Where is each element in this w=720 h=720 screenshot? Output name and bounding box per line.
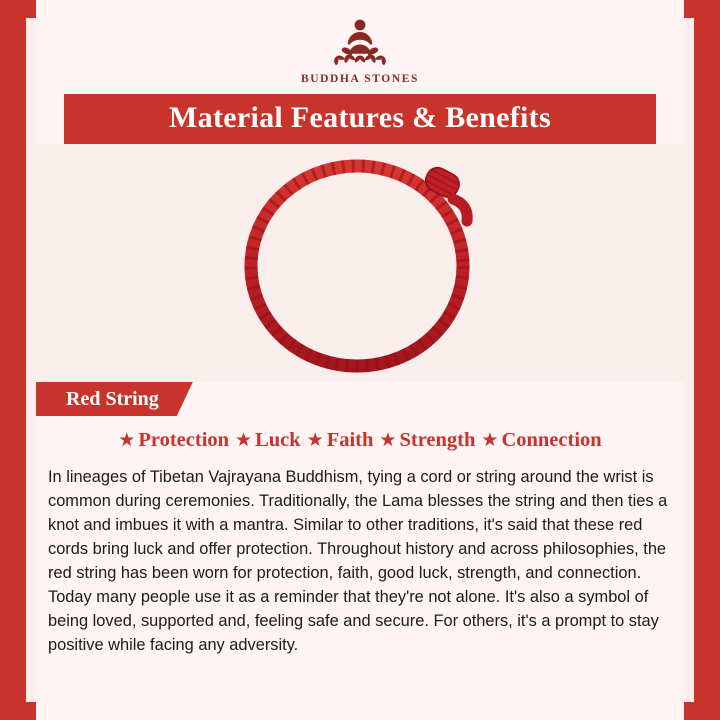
star-icon: ★ [235,431,252,450]
product-image [36,144,684,382]
brand-name: BUDDHA STONES [301,73,419,85]
star-icon: ★ [379,431,396,450]
feature-item-luck: ★ Luck [235,429,301,452]
feature-item-protection: ★ Protection [118,429,229,452]
label-tab-row: Red String [36,382,684,416]
feature-list: ★ Protection ★ Luck ★ Faith ★ Strength ★… [36,416,684,460]
star-icon: ★ [481,431,498,450]
feature-item-connection: ★ Connection [481,429,601,452]
content-area: BUDDHA STONES Material Features & Benefi… [36,0,684,720]
feature-label: Strength [399,429,475,452]
material-label: Red String [36,382,193,416]
right-border-band [694,0,720,720]
description-paragraph: In lineages of Tibetan Vajrayana Buddhis… [36,460,684,658]
page-title: Material Features & Benefits [64,94,656,144]
buddha-lotus-icon [312,14,408,68]
right-inner-gap [684,0,694,720]
brand-logo: BUDDHA STONES [36,0,684,85]
star-icon: ★ [118,431,135,450]
feature-item-faith: ★ Faith [307,429,374,452]
red-braided-string-bracelet-icon [210,151,510,376]
feature-label: Faith [327,429,374,452]
left-border-band [0,0,26,720]
feature-label: Luck [255,429,301,452]
feature-label: Connection [501,429,601,452]
left-inner-gap [26,0,36,720]
feature-label: Protection [138,429,229,452]
feature-item-strength: ★ Strength [379,429,475,452]
infographic-page: BUDDHA STONES Material Features & Benefi… [0,0,720,720]
star-icon: ★ [307,431,324,450]
